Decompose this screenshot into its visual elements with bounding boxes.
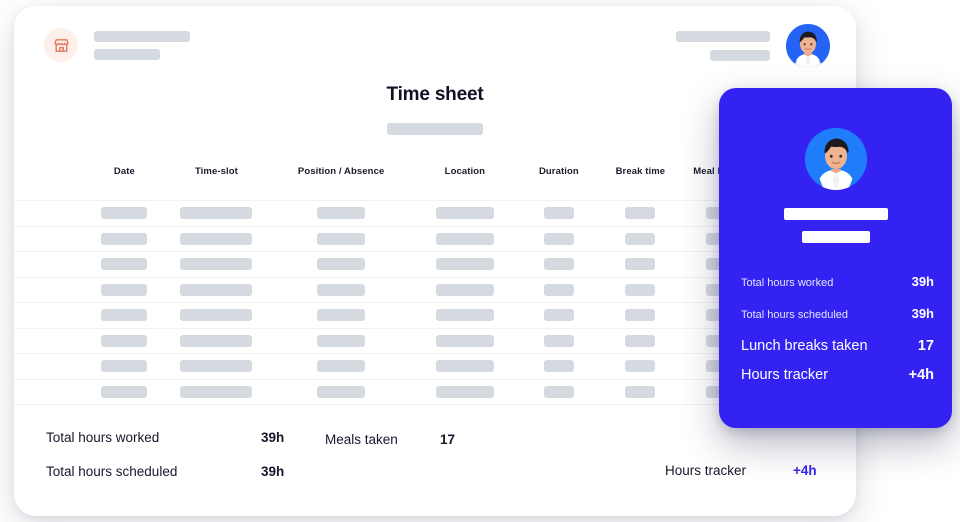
table-cell-location [412,258,518,270]
summary-meals-taken: Meals taken 17 [325,432,398,447]
summary-total-hours-worked-label: Total hours worked [46,430,159,445]
placeholder-bar [180,284,252,296]
subtitle-placeholder [387,123,483,135]
placeholder-bar [544,207,574,219]
placeholder-bar [317,309,365,321]
placeholder-bar [101,386,147,398]
table-cell-duration [518,309,600,321]
table-cell-break_time [600,386,681,398]
table-cell-time_slot [163,335,270,347]
placeholder-bar [180,207,252,219]
table-cell-duration [518,207,600,219]
card-stat-hours-tracker: Hours tracker+4h [741,367,934,383]
placeholder-bar [625,386,655,398]
placeholder-bar [180,386,252,398]
placeholder-bar [101,207,147,219]
table-cell-position_absence [270,233,412,245]
placeholder-bar [625,207,655,219]
column-header-time-slot[interactable]: Time-slot [163,166,270,177]
summary-hours-tracker: Hours tracker +4h [665,463,746,478]
placeholder-bar [436,360,494,372]
column-header-location[interactable]: Location [412,166,518,177]
placeholder-bar [436,207,494,219]
placeholder-bar [317,284,365,296]
table-cell-position_absence [270,360,412,372]
placeholder-bar [317,258,365,270]
table-cell-time_slot [163,258,270,270]
card-role-placeholder [802,231,870,243]
table-cell-duration [518,284,600,296]
placeholder-bar [101,258,147,270]
placeholder-bar [180,360,252,372]
table-cell-location [412,309,518,321]
avatar[interactable] [786,24,830,68]
brand[interactable] [44,28,190,62]
table-cell-time_slot [163,386,270,398]
summary-hours-tracker-value: +4h [793,463,817,478]
placeholder-bar [436,284,494,296]
placeholder-bar [101,360,147,372]
table-cell-time_slot [163,309,270,321]
summary-total-hours-scheduled-label: Total hours scheduled [46,464,177,479]
store-icon [44,28,78,62]
placeholder-bar [317,335,365,347]
table-cell-break_time [600,207,681,219]
placeholder-bar [436,258,494,270]
table-cell-date [86,207,163,219]
brand-placeholder-line-1 [94,31,190,42]
summary-meals-taken-value: 17 [440,432,455,447]
placeholder-bar [180,335,252,347]
placeholder-bar [101,309,147,321]
header-user-block[interactable] [676,24,830,68]
summary-total-hours-worked: Total hours worked 39h [46,430,159,445]
table-cell-position_absence [270,207,412,219]
table-cell-break_time [600,335,681,347]
placeholder-bar [436,233,494,245]
placeholder-bar [101,284,147,296]
table-cell-position_absence [270,335,412,347]
table-cell-duration [518,386,600,398]
placeholder-bar [317,360,365,372]
placeholder-bar [180,233,252,245]
table-cell-duration [518,335,600,347]
table-cell-date [86,258,163,270]
table-cell-location [412,386,518,398]
card-stat-value: +4h [909,367,934,383]
placeholder-bar [625,284,655,296]
table-cell-position_absence [270,258,412,270]
card-name-placeholder [784,208,888,220]
placeholder-bar [625,335,655,347]
table-cell-time_slot [163,233,270,245]
table-cell-duration [518,360,600,372]
table-cell-position_absence [270,284,412,296]
placeholder-bar [101,233,147,245]
placeholder-bar [544,284,574,296]
placeholder-bar [180,258,252,270]
table-cell-break_time [600,233,681,245]
summary-total-hours-worked-value: 39h [261,430,284,445]
card-stat-value: 17 [918,338,934,354]
card-stat-value: 39h [912,274,934,289]
placeholder-bar [436,309,494,321]
card-avatar[interactable] [805,128,867,190]
brand-placeholder-lines [94,31,190,60]
table-cell-position_absence [270,386,412,398]
table-cell-duration [518,258,600,270]
card-stat-lunch-breaks-taken: Lunch breaks taken17 [741,338,934,354]
brand-placeholder-line-2 [94,49,160,60]
card-stat-label: Total hours scheduled [741,309,848,321]
placeholder-bar [317,207,365,219]
table-cell-duration [518,233,600,245]
card-stat-total-hours-scheduled: Total hours scheduled39h [741,306,934,321]
table-cell-time_slot [163,207,270,219]
card-stat-label: Total hours worked [741,277,833,289]
table-cell-date [86,335,163,347]
card-stat-value: 39h [912,306,934,321]
placeholder-bar [544,360,574,372]
card-stat-label: Hours tracker [741,367,828,383]
table-cell-break_time [600,309,681,321]
placeholder-bar [317,233,365,245]
summary-meals-taken-label: Meals taken [325,432,398,447]
summary-block: Total hours worked 39h Total hours sched… [14,418,856,502]
placeholder-bar [544,309,574,321]
placeholder-bar [544,233,574,245]
table-cell-date [86,360,163,372]
table-cell-date [86,233,163,245]
table-cell-position_absence [270,309,412,321]
card-stats-list: Total hours worked39hTotal hours schedul… [741,274,934,396]
table-cell-time_slot [163,284,270,296]
placeholder-bar [544,386,574,398]
table-cell-break_time [600,258,681,270]
card-stat-label: Lunch breaks taken [741,338,868,354]
screenshot-root: Time sheet Date Time-slot Position / Abs… [0,0,960,522]
placeholder-bar [544,335,574,347]
user-placeholder-lines [676,31,770,61]
placeholder-bar [625,233,655,245]
table-cell-break_time [600,360,681,372]
panel-header [14,6,856,78]
summary-hours-tracker-label: Hours tracker [665,463,746,478]
summary-total-hours-scheduled: Total hours scheduled 39h [46,464,177,479]
table-cell-location [412,207,518,219]
table-cell-location [412,335,518,347]
placeholder-bar [101,335,147,347]
placeholder-bar [436,386,494,398]
placeholder-bar [180,309,252,321]
placeholder-bar [317,386,365,398]
summary-total-hours-scheduled-value: 39h [261,464,284,479]
user-placeholder-line-1 [676,31,770,42]
placeholder-bar [436,335,494,347]
employee-summary-card: Total hours worked39hTotal hours schedul… [719,88,952,428]
table-cell-location [412,233,518,245]
table-cell-date [86,309,163,321]
table-cell-location [412,284,518,296]
card-stat-total-hours-worked: Total hours worked39h [741,274,934,289]
table-cell-break_time [600,284,681,296]
column-header-date[interactable]: Date [86,166,163,177]
placeholder-bar [544,258,574,270]
column-header-duration[interactable]: Duration [518,166,600,177]
placeholder-bar [625,360,655,372]
column-header-position-absence[interactable]: Position / Absence [270,166,412,177]
placeholder-bar [625,258,655,270]
user-placeholder-line-2 [710,50,770,61]
table-cell-date [86,386,163,398]
placeholder-bar [625,309,655,321]
table-cell-time_slot [163,360,270,372]
column-header-break-time[interactable]: Break time [600,166,681,177]
table-cell-location [412,360,518,372]
table-cell-date [86,284,163,296]
